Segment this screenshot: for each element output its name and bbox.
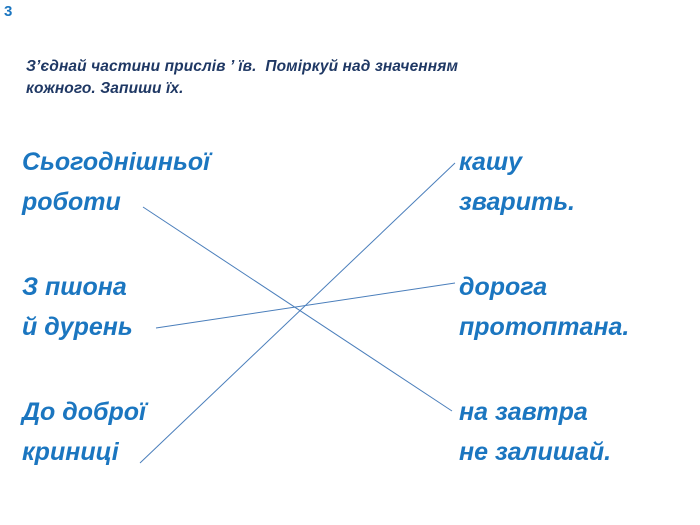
left-phrase-1[interactable]: З пшона й дурень [22,267,133,347]
right-phrase-2-line-1: на завтра [459,392,611,432]
left-phrase-2-line-2: криниці [22,432,146,472]
connector-line-0[interactable] [143,207,452,411]
left-phrase-1-line-1: З пшона [22,267,133,307]
right-phrase-1[interactable]: дорога протоптана. [459,267,629,347]
slide-canvas: 3 З’єднай частини прислів ’ їв. Поміркуй… [0,0,700,525]
right-phrase-0[interactable]: кашу зварить. [459,142,575,222]
right-phrase-0-line-2: зварить. [459,182,575,222]
right-phrase-1-line-2: протоптана. [459,307,629,347]
right-phrase-0-line-1: кашу [459,142,575,182]
left-phrase-0-line-1: Сьогоднішньої [22,142,210,182]
left-phrase-0-line-2: роботи [22,182,210,222]
right-phrase-2[interactable]: на завтра не залишай. [459,392,611,472]
left-phrase-2-line-1: До доброї [22,392,146,432]
left-phrase-0[interactable]: Сьогоднішньої роботи [22,142,210,222]
right-phrase-1-line-1: дорога [459,267,629,307]
right-phrase-2-line-2: не залишай. [459,432,611,472]
left-phrase-2[interactable]: До доброї криниці [22,392,146,472]
left-phrase-1-line-2: й дурень [22,307,133,347]
